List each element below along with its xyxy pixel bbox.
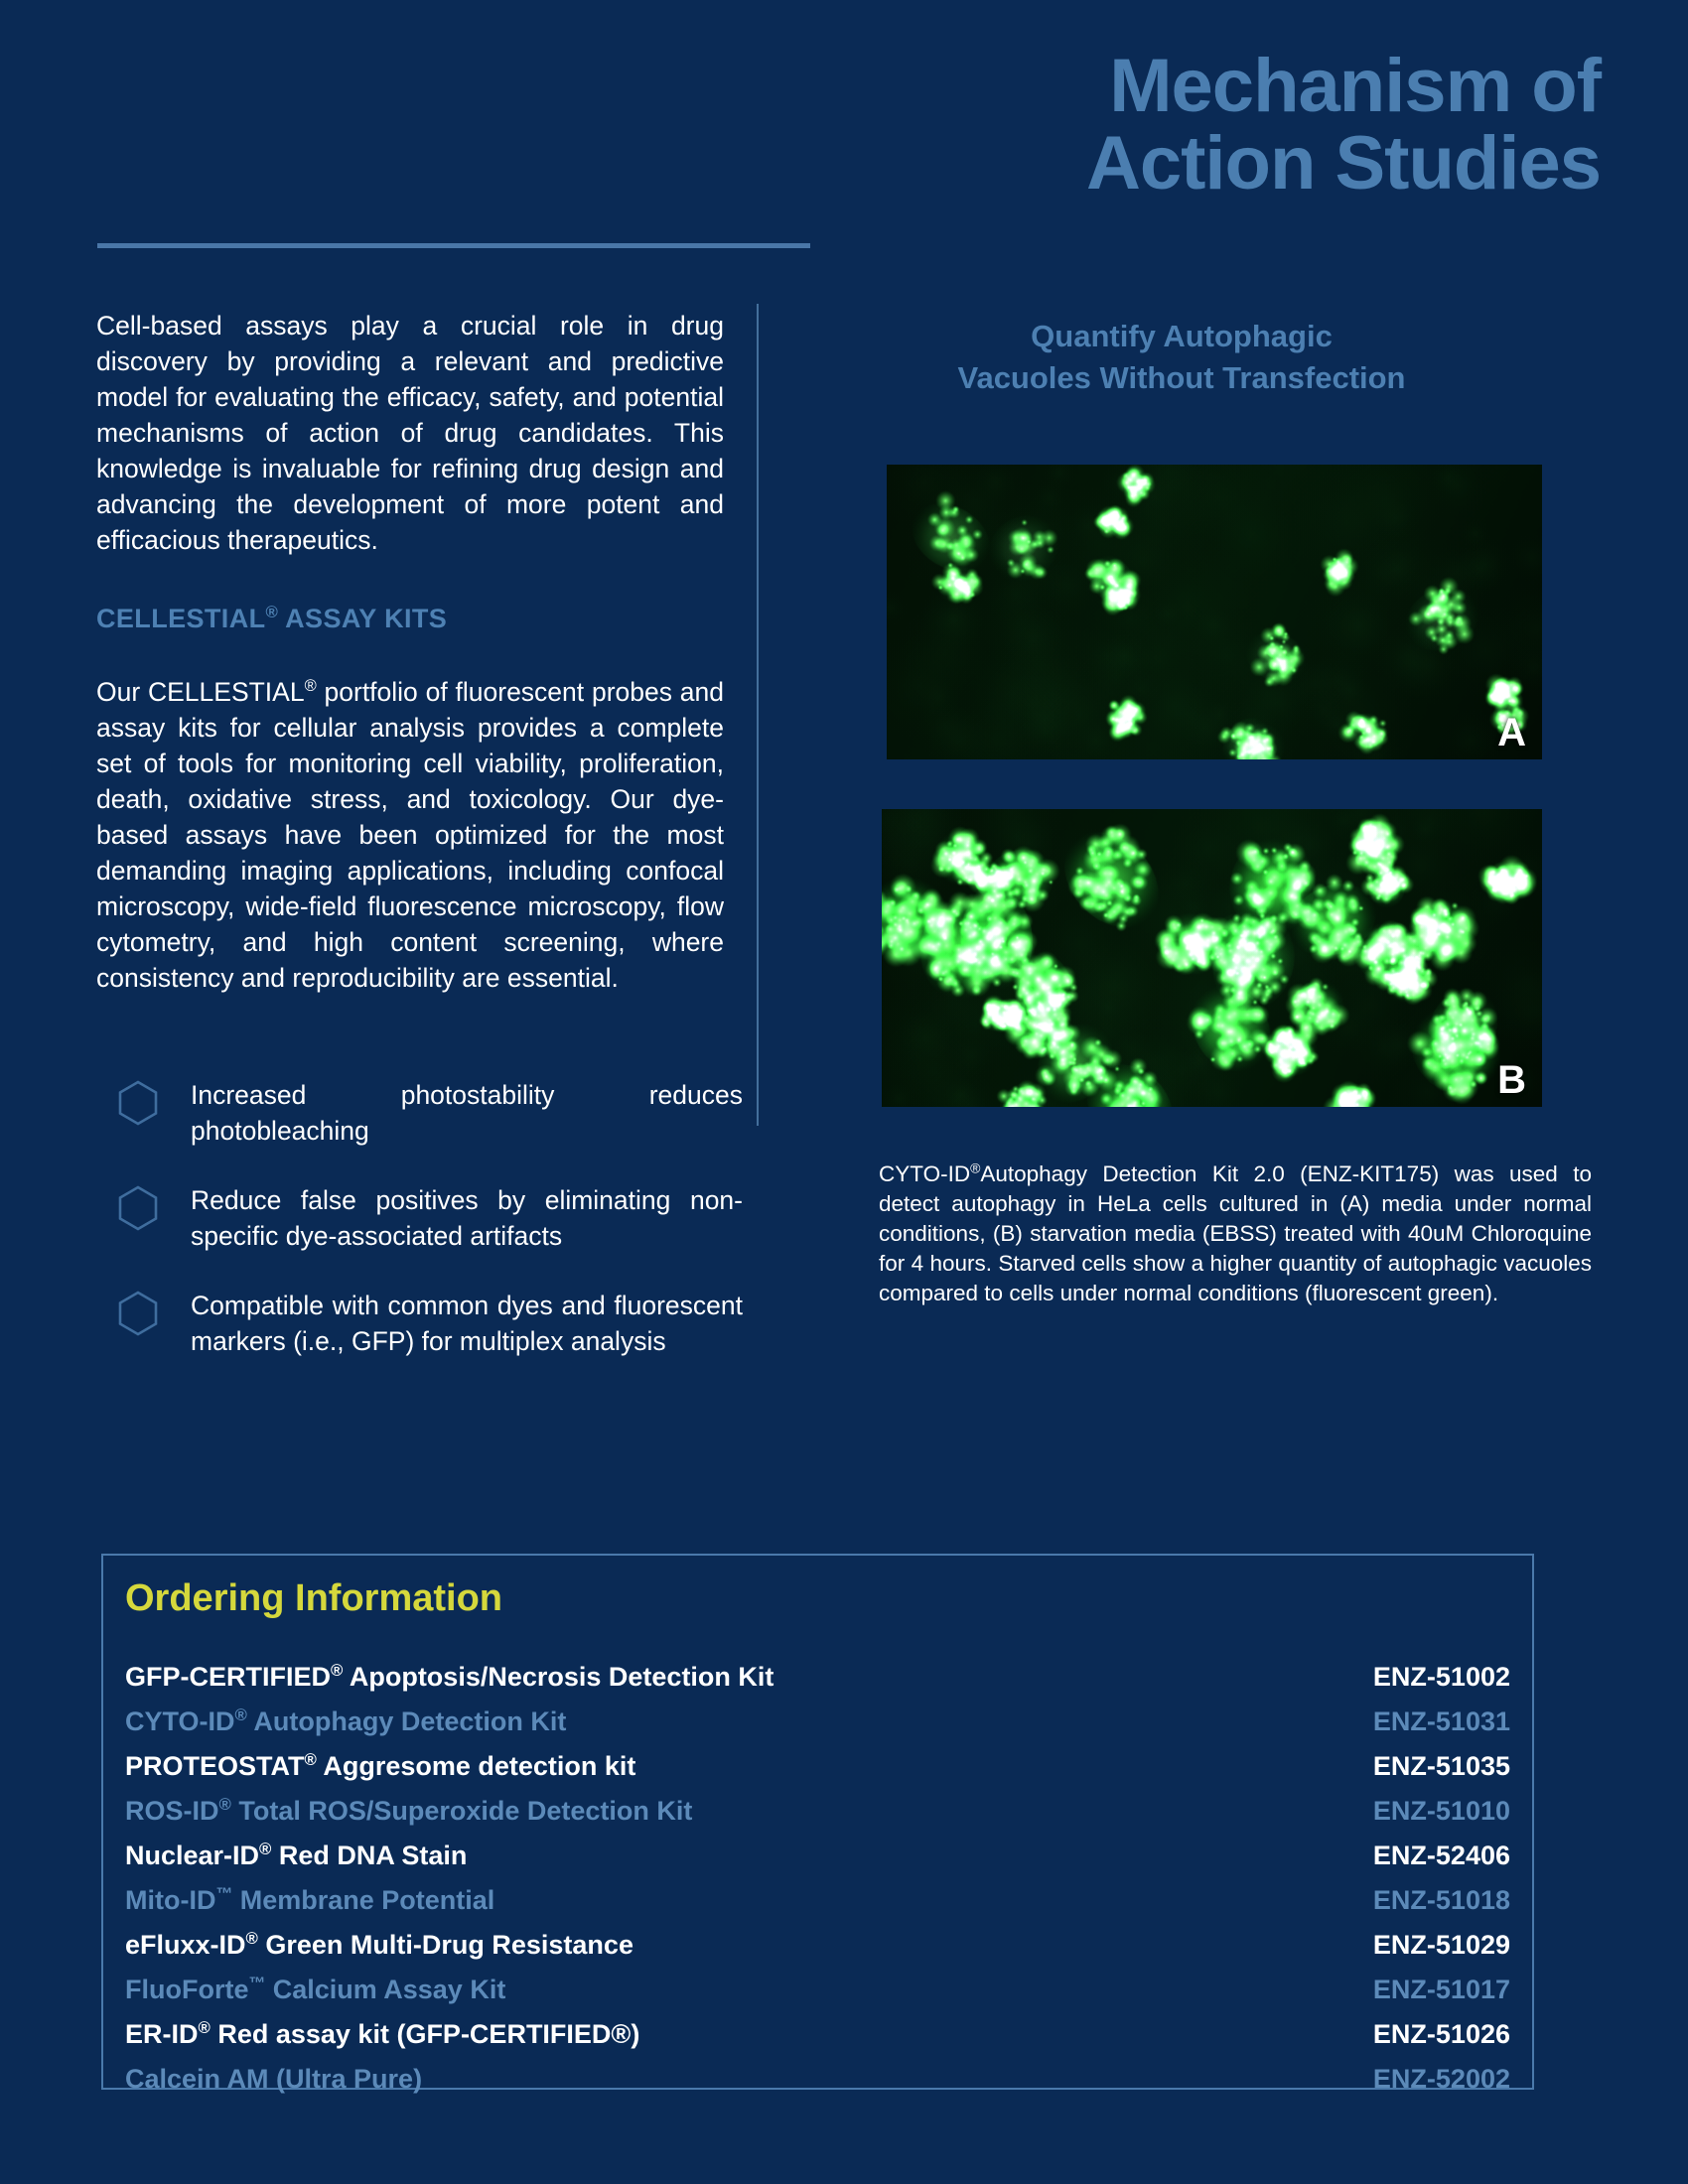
list-item: Compatible with common dyes and fluoresc…: [117, 1288, 743, 1359]
product-name-prefix: GFP-CERTIFIED: [125, 1662, 331, 1692]
catalog-number-cell: ENZ-51018: [1373, 1878, 1510, 1923]
header-divider-rule: [97, 243, 810, 248]
page-title: Mechanism of Action Studies: [755, 48, 1601, 202]
figure-subtitle-line-1: Quantify Autophagic: [824, 316, 1539, 357]
micrograph-panel-b: B: [882, 809, 1542, 1107]
table-row: FluoForte™ Calcium Assay KitENZ-51017: [125, 1968, 1510, 2012]
product-name-cell: ER-ID® Red assay kit (GFP-CERTIFIED®): [125, 2012, 639, 2057]
registered-mark-icon: ®: [235, 1706, 247, 1724]
catalog-number-cell: ENZ-52406: [1373, 1834, 1510, 1878]
portfolio-paragraph: Our CELLESTIAL® portfolio of fluorescent…: [96, 674, 724, 996]
page-title-line-2: Action Studies: [755, 125, 1601, 203]
list-item-label: Reduce false positives by eliminating no…: [191, 1182, 743, 1254]
intro-paragraph: Cell-based assays play a crucial role in…: [96, 308, 724, 558]
registered-mark-icon: ®: [305, 1750, 317, 1769]
product-name-prefix: eFluxx-ID: [125, 1930, 246, 1960]
portfolio-paragraph-prefix: Our CELLESTIAL: [96, 677, 305, 707]
list-item: Reduce false positives by eliminating no…: [117, 1182, 743, 1254]
figure-caption-prefix: CYTO-ID: [879, 1161, 970, 1186]
product-name-prefix: PROTEOSTAT: [125, 1751, 305, 1781]
micrograph-panel-a: A: [887, 465, 1542, 759]
product-name-suffix: Apoptosis/Necrosis Detection Kit: [343, 1662, 774, 1692]
micrograph-image-a: [887, 465, 1542, 759]
registered-mark-icon: ®: [305, 677, 317, 695]
product-name-cell: Calcein AM (Ultra Pure): [125, 2057, 422, 2102]
product-name-suffix: Red assay kit (GFP-CERTIFIED®): [211, 2019, 639, 2049]
figure-subtitle-line-2: Vacuoles Without Transfection: [824, 357, 1539, 399]
page-title-line-1: Mechanism of: [755, 48, 1601, 125]
panel-label-a: A: [1497, 711, 1526, 755]
column-divider-rule: [757, 304, 759, 1126]
product-name-suffix: Total ROS/Superoxide Detection Kit: [231, 1796, 693, 1826]
figure-caption: CYTO-ID®Autophagy Detection Kit 2.0 (ENZ…: [879, 1160, 1592, 1308]
registered-mark-icon: ®: [266, 603, 279, 621]
catalog-number-cell: ENZ-51029: [1373, 1923, 1510, 1968]
registered-mark-icon: ®: [331, 1661, 343, 1680]
catalog-number-cell: ENZ-51017: [1373, 1968, 1510, 2012]
feature-bullet-list: Increased photostability reduces photobl…: [117, 1077, 743, 1393]
product-name-suffix: Autophagy Detection Kit: [247, 1706, 567, 1736]
figure-caption-suffix: Autophagy Detection Kit 2.0 (ENZ-KIT175)…: [879, 1161, 1592, 1305]
section-heading: CELLESTIAL® ASSAY KITS: [96, 604, 724, 634]
product-name-prefix: Nuclear-ID: [125, 1841, 259, 1870]
left-column: Cell-based assays play a crucial role in…: [96, 308, 724, 996]
ordering-information-box: Ordering Information GFP-CERTIFIED® Apop…: [101, 1554, 1534, 2090]
product-name-cell: FluoForte™ Calcium Assay Kit: [125, 1968, 505, 2012]
catalog-number-cell: ENZ-52002: [1373, 2057, 1510, 2102]
table-row: ROS-ID® Total ROS/Superoxide Detection K…: [125, 1789, 1510, 1834]
product-name-cell: Mito-ID™ Membrane Potential: [125, 1878, 494, 1923]
registered-mark-icon: ®: [246, 1929, 258, 1948]
list-item: Increased photostability reduces photobl…: [117, 1077, 743, 1149]
portfolio-paragraph-suffix: portfolio of fluorescent probes and assa…: [96, 677, 724, 993]
poster-page: Mechanism of Action Studies Cell-based a…: [0, 0, 1688, 2184]
registered-mark-icon: ®: [219, 1795, 231, 1814]
product-name-suffix: Green Multi-Drug Resistance: [258, 1930, 633, 1960]
hexagon-bullet-icon: [117, 1291, 159, 1336]
product-name-suffix: Membrane Potential: [232, 1885, 494, 1915]
product-name-prefix: FluoForte: [125, 1975, 248, 2004]
ordering-information-title: Ordering Information: [125, 1577, 502, 1620]
table-row: Mito-ID™ Membrane PotentialENZ-51018: [125, 1878, 1510, 1923]
product-name-suffix: Calcium Assay Kit: [265, 1975, 505, 2004]
table-row: ER-ID® Red assay kit (GFP-CERTIFIED®)ENZ…: [125, 2012, 1510, 2057]
catalog-number-cell: ENZ-51031: [1373, 1700, 1510, 1744]
list-item-label: Compatible with common dyes and fluoresc…: [191, 1288, 743, 1359]
product-name-cell: PROTEOSTAT® Aggresome detection kit: [125, 1744, 635, 1789]
figure-subtitle: Quantify Autophagic Vacuoles Without Tra…: [824, 316, 1539, 399]
panel-label-b: B: [1497, 1058, 1526, 1103]
registered-mark-icon: ®: [259, 1840, 271, 1858]
trademark-mark-icon: ™: [215, 1884, 232, 1903]
product-name-prefix: ER-ID: [125, 2019, 199, 2049]
product-name-cell: Nuclear-ID® Red DNA Stain: [125, 1834, 467, 1878]
table-row: CYTO-ID® Autophagy Detection KitENZ-5103…: [125, 1700, 1510, 1744]
catalog-number-cell: ENZ-51002: [1373, 1655, 1510, 1700]
section-heading-suffix: ASSAY KITS: [278, 604, 447, 633]
hexagon-bullet-icon: [117, 1185, 159, 1231]
catalog-number-cell: ENZ-51010: [1373, 1789, 1510, 1834]
product-name-suffix: Aggresome detection kit: [317, 1751, 636, 1781]
trademark-mark-icon: ™: [248, 1974, 265, 1992]
table-row: eFluxx-ID® Green Multi-Drug ResistanceEN…: [125, 1923, 1510, 1968]
product-name-cell: GFP-CERTIFIED® Apoptosis/Necrosis Detect…: [125, 1655, 774, 1700]
table-row: GFP-CERTIFIED® Apoptosis/Necrosis Detect…: [125, 1655, 1510, 1700]
product-name-prefix: CYTO-ID: [125, 1706, 235, 1736]
product-name-prefix: Mito-ID: [125, 1885, 215, 1915]
product-name-suffix: Red DNA Stain: [271, 1841, 467, 1870]
ordering-table: GFP-CERTIFIED® Apoptosis/Necrosis Detect…: [125, 1655, 1510, 2102]
table-row: Calcein AM (Ultra Pure)ENZ-52002: [125, 2057, 1510, 2102]
product-name-prefix: Calcein AM (Ultra Pure): [125, 2064, 422, 2094]
table-row: PROTEOSTAT® Aggresome detection kitENZ-5…: [125, 1744, 1510, 1789]
registered-mark-icon: ®: [199, 2018, 211, 2037]
catalog-number-cell: ENZ-51026: [1373, 2012, 1510, 2057]
product-name-cell: ROS-ID® Total ROS/Superoxide Detection K…: [125, 1789, 692, 1834]
registered-mark-icon: ®: [970, 1160, 980, 1176]
section-heading-prefix: CELLESTIAL: [96, 604, 266, 633]
micrograph-image-b: [882, 809, 1542, 1107]
list-item-label: Increased photostability reduces photobl…: [191, 1077, 743, 1149]
hexagon-bullet-icon: [117, 1080, 159, 1126]
product-name-cell: CYTO-ID® Autophagy Detection Kit: [125, 1700, 566, 1744]
product-name-prefix: ROS-ID: [125, 1796, 219, 1826]
product-name-cell: eFluxx-ID® Green Multi-Drug Resistance: [125, 1923, 633, 1968]
table-row: Nuclear-ID® Red DNA StainENZ-52406: [125, 1834, 1510, 1878]
catalog-number-cell: ENZ-51035: [1373, 1744, 1510, 1789]
